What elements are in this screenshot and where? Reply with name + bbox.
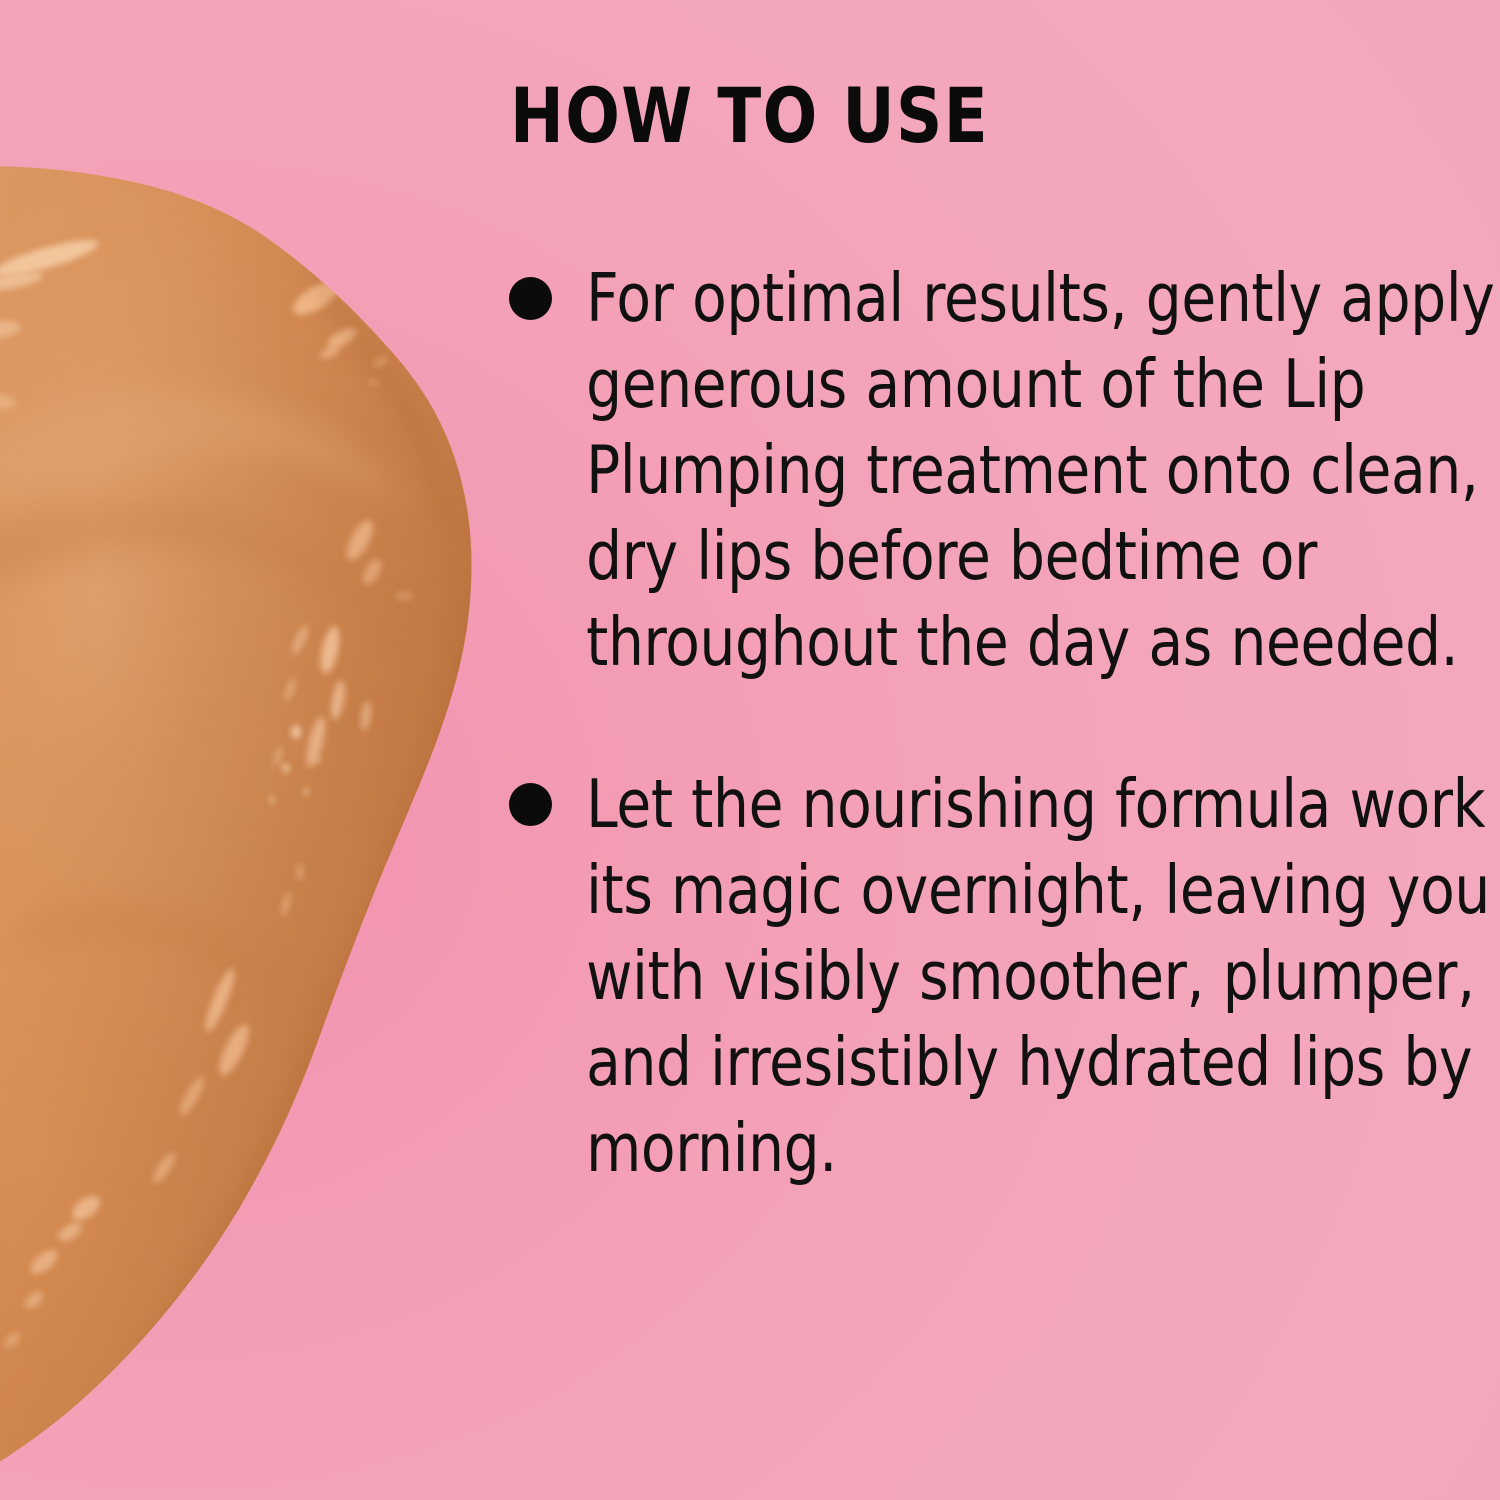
product-info-panel: HOW TO USE For optimal results, gently a… — [0, 0, 1500, 1500]
list-item: Let the nourishing formula work its magi… — [505, 761, 1465, 1191]
instruction-text: For optimal results, gently apply a gene… — [505, 255, 1500, 685]
instructions-panel: HOW TO USE For optimal results, gently a… — [505, 0, 1485, 1500]
instruction-list: For optimal results, gently apply a gene… — [505, 255, 1465, 1191]
page-title: HOW TO USE — [510, 78, 989, 154]
instruction-text: Let the nourishing formula work its magi… — [505, 761, 1500, 1191]
product-swatch-image — [0, 0, 560, 1500]
list-item: For optimal results, gently apply a gene… — [505, 255, 1465, 685]
